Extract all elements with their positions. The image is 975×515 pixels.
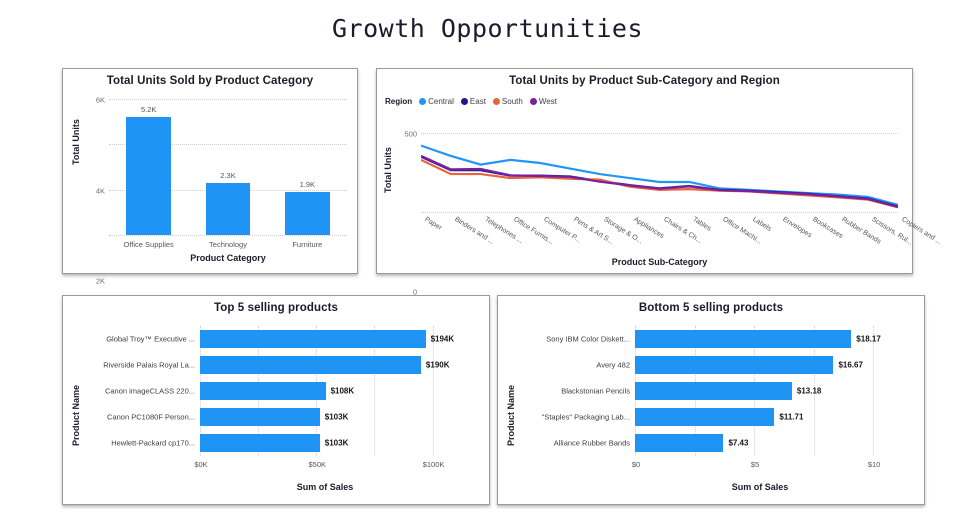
x-axis-tick-label: $5 [751,460,759,469]
x-axis-title: Sum of Sales [635,482,885,492]
table-row: Alliance Rubber Bands$7.43 [635,433,885,453]
bar-value-label: 2.3K [220,171,235,180]
table-row: Global Troy™ Executive ...$194K [200,329,450,349]
bar-value-label: $108K [331,387,355,396]
plot-area: $0K$50K$100K$150K$200KGlobal Troy™ Execu… [200,326,450,456]
y-axis-title: Total Units [383,147,393,193]
bar-category-label: Global Troy™ Executive ... [106,335,195,344]
x-axis-tick-label: Paper [423,216,443,232]
bar-value-label: $194K [431,335,455,344]
legend-item-label: West [539,97,557,106]
bar-category-label: Avery 482 [596,361,630,370]
bar-value-label: 1.9K [300,180,315,189]
table-row: Canon PC1080F Person...$103K [200,407,450,427]
bar[interactable] [200,434,320,452]
bar-category-label: Sony IBM Color Diskett... [546,335,630,344]
table-row: Avery 482$16.67 [635,355,885,375]
plot-area: 0K2K4K6K5.2KOffice Supplies2.3KTechnolog… [109,99,347,235]
legend-color-dot [530,98,537,105]
legend-item-west[interactable]: West [530,97,557,106]
legend-item-south[interactable]: South [493,97,523,106]
bar-category-label: "Staples" Packaging Lab... [542,413,630,422]
table-row: Sony IBM Color Diskett...$18.17 [635,329,885,349]
bar-category-label: Hewlett-Packard cp170... [111,439,195,448]
chart-panel-bottom5[interactable]: Bottom 5 selling products Product Name $… [497,295,925,505]
legend-color-dot [493,98,500,105]
x-axis-title: Sum of Sales [200,482,450,492]
bar[interactable] [206,183,250,235]
y-axis-title: Product Name [506,385,516,446]
chart-panel-units-by-category[interactable]: Total Units Sold by Product Category Tot… [62,68,358,274]
legend-color-dot [461,98,468,105]
y-axis-title: Total Units [71,119,81,165]
bar[interactable] [635,434,723,452]
legend-title: Region [385,97,412,106]
y-axis-title: Product Name [71,385,81,446]
bar-category-label: Alliance Rubber Bands [554,439,630,448]
x-axis-title: Product Category [109,253,347,263]
bar-category-label: Canon imageCLASS 220... [105,387,195,396]
bar[interactable] [126,117,170,235]
y-axis-tick-label: 6K [96,96,105,105]
bar-category-label: Riverside Palais Royal La... [103,361,195,370]
x-axis-tick-label: Labels [751,216,772,233]
bar-value-label: 5.2K [141,105,156,114]
bar[interactable] [200,382,326,400]
chart-title: Total Units by Product Sub-Category and … [377,69,912,87]
line-series-south[interactable] [421,160,898,207]
table-row: Canon imageCLASS 220...$108K [200,381,450,401]
gridline: 6K [109,99,347,100]
bar[interactable] [285,192,329,235]
y-axis-tick-label: 4K [96,186,105,195]
legend[interactable]: Region CentralEastSouthWest [385,97,560,106]
chart-title: Top 5 selling products [63,296,489,314]
bar-value-label: $13.18 [797,387,821,396]
x-axis-title: Product Sub-Category [421,257,898,267]
x-axis-tick-label: $100K [423,460,445,469]
x-axis-tick-label: Furniture [292,240,322,249]
chart-panel-top5[interactable]: Top 5 selling products Product Name $0K$… [62,295,490,505]
bar[interactable] [635,356,833,374]
x-axis-tick-label: $0K [194,460,207,469]
x-axis-tick-label: $50K [308,460,326,469]
chart-title: Total Units Sold by Product Category [63,69,357,87]
bar-value-label: $11.71 [779,413,803,422]
bar-category-label: Canon PC1080F Person... [107,413,195,422]
gridline: 0K [109,235,347,236]
bar[interactable] [635,382,792,400]
line-series-group [421,133,898,212]
y-axis-tick-label: 2K [96,277,105,286]
plot-area: 0500PaperBinders and ...Telephones ...Of… [421,133,898,212]
plot-area: $0$5$10$15$20Sony IBM Color Diskett...$1… [635,326,885,456]
chart-panel-units-by-subcategory[interactable]: Total Units by Product Sub-Category and … [376,68,913,274]
x-axis-tick-label: Bookcases [811,216,844,240]
x-axis-tick-label: Office Supplies [124,240,174,249]
x-axis-tick-label: $10 [868,460,881,469]
bar[interactable] [635,408,774,426]
legend-item-label: South [502,97,523,106]
legend-color-dot [419,98,426,105]
table-row: Blackstonian Pencils$13.18 [635,381,885,401]
x-axis-tick-label: Envelopes [781,216,812,239]
bar[interactable] [200,330,426,348]
bar-value-label: $103K [325,439,349,448]
y-axis-tick-label: 500 [404,130,417,139]
bar-category-label: Blackstonian Pencils [561,387,630,396]
bar[interactable] [635,330,851,348]
table-row: Riverside Palais Royal La...$190K [200,355,450,375]
bar-value-label: $18.17 [856,335,880,344]
table-row: "Staples" Packaging Lab...$11.71 [635,407,885,427]
legend-item-label: East [470,97,486,106]
bar-value-label: $103K [325,413,349,422]
legend-item-label: Central [428,97,454,106]
legend-item-east[interactable]: East [461,97,486,106]
gridline: 0 [421,212,898,213]
x-axis-tick-label: Technology [209,240,247,249]
page-title: Growth Opportunities [0,0,975,43]
bar-value-label: $7.43 [728,439,748,448]
bar[interactable] [200,356,421,374]
chart-title: Bottom 5 selling products [498,296,924,314]
bar-value-label: $190K [426,361,450,370]
legend-item-central[interactable]: Central [419,97,454,106]
x-axis-tick-label: $0 [632,460,640,469]
x-axis-tick-label: Tables [692,216,713,233]
table-row: Hewlett-Packard cp170...$103K [200,433,450,453]
bar[interactable] [200,408,320,426]
bar-value-label: $16.67 [838,361,862,370]
